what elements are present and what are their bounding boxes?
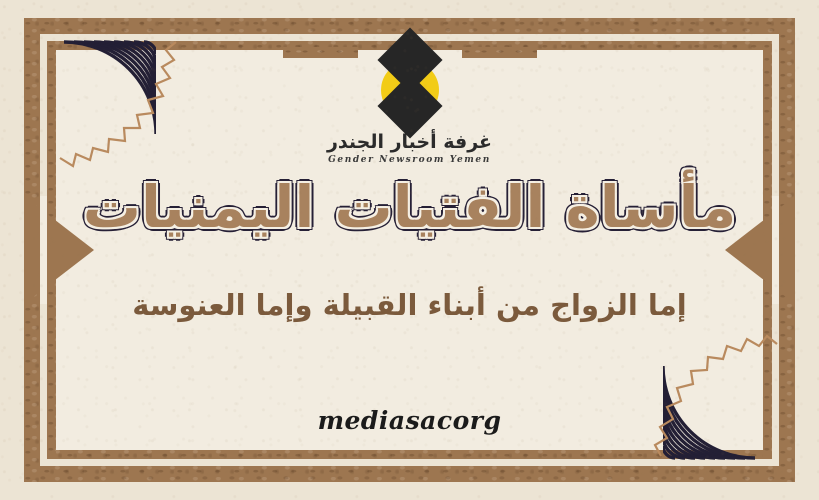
poster-canvas: غرفة أخبار الجندر Gender Newsroom Yemen …	[0, 0, 819, 500]
corner-zigzag-bottom-right-icon	[641, 330, 779, 460]
brand-logo-block: غرفة أخبار الجندر Gender Newsroom Yemen	[0, 40, 819, 165]
logo-dash-right	[462, 47, 537, 58]
headline-title: مأساة الفتيات اليمنيات	[0, 176, 819, 240]
frame-band-outer-bottom	[24, 466, 795, 482]
website-handle: mediasacorg	[0, 406, 819, 435]
logo-dash-left	[283, 47, 358, 58]
logo-diamond-mark-icon	[364, 40, 456, 126]
subtitle-text: إما الزواج من أبناء القبيلة وإما العنوسة	[0, 288, 819, 322]
logo-latin-name: Gender Newsroom Yemen	[0, 155, 819, 165]
